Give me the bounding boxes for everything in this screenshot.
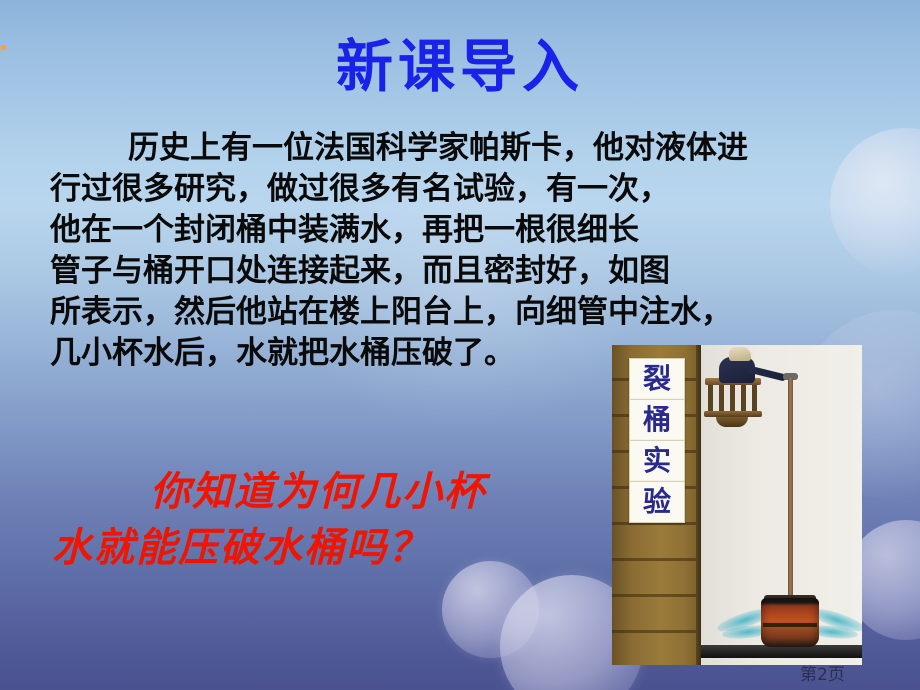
person-head: [729, 347, 751, 361]
caption-tile: 验: [629, 481, 685, 523]
barrel-band: [763, 623, 817, 627]
body-line: 历史上有一位法国科学家帕斯卡，他对液体进: [50, 128, 880, 169]
body-line: 他在一个封闭桶中装满水，再把一根很细长: [50, 210, 880, 251]
question-line: 水就能压破水桶吗？: [52, 520, 652, 576]
page-title: 新课导入: [0, 38, 920, 98]
body-paragraph: 历史上有一位法国科学家帕斯卡，他对液体进 行过很多研究，做过很多有名试验，有一次…: [50, 128, 880, 374]
slide-canvas: 新课导入 历史上有一位法国科学家帕斯卡，他对液体进 行过很多研究，做过很多有名试…: [0, 0, 920, 690]
thin-tube: [788, 378, 793, 598]
body-line: 行过很多研究，做过很多有名试验，有一次，: [50, 169, 880, 210]
page-number: 第2页: [800, 660, 910, 685]
caption-tile: 裂: [629, 358, 685, 400]
body-line: 管子与桶开口处连接起来，而且密封好，如图: [50, 251, 880, 292]
experiment-illustration: 裂 桶 实 验: [612, 345, 862, 665]
balcony-balusters: [708, 385, 758, 413]
balcony-base: [716, 417, 748, 427]
question-line: 你知道为何几小杯: [52, 464, 652, 520]
caption-tile: 桶: [629, 399, 685, 441]
body-line: 所表示，然后他站在楼上阳台上，向细管中注水，: [50, 292, 880, 333]
caption-tile: 实: [629, 440, 685, 482]
question-text: 你知道为何几小杯 水就能压破水桶吗？: [52, 464, 652, 576]
